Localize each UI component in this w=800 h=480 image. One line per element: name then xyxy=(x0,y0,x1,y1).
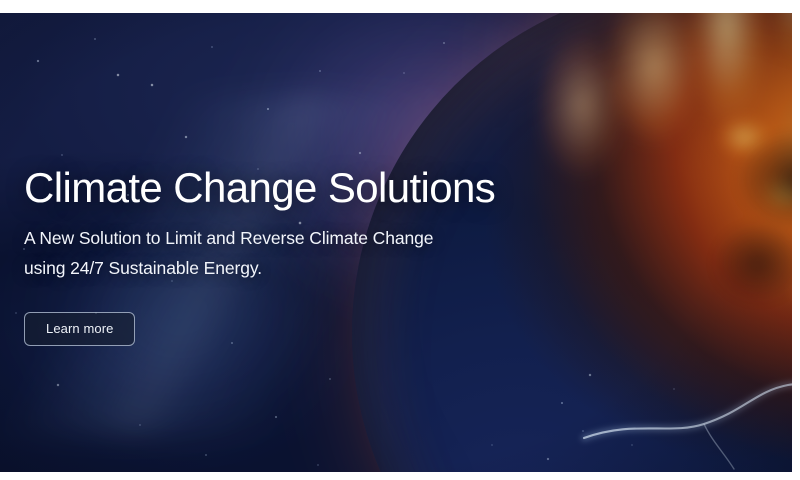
hero-banner: Climate Change Solutions A New Solution … xyxy=(0,13,792,472)
page-title: Climate Change Solutions xyxy=(24,165,544,210)
hero-subtitle: A New Solution to Limit and Reverse Clim… xyxy=(24,223,494,283)
learn-more-button[interactable]: Learn more xyxy=(24,312,135,346)
hero-content: Climate Change Solutions A New Solution … xyxy=(24,165,544,346)
hero-subtitle-line-2: using 24/7 Sustainable Energy. xyxy=(24,258,262,278)
hero-subtitle-line-1: A New Solution to Limit and Reverse Clim… xyxy=(24,228,433,248)
page-root: Climate Change Solutions A New Solution … xyxy=(0,0,800,480)
